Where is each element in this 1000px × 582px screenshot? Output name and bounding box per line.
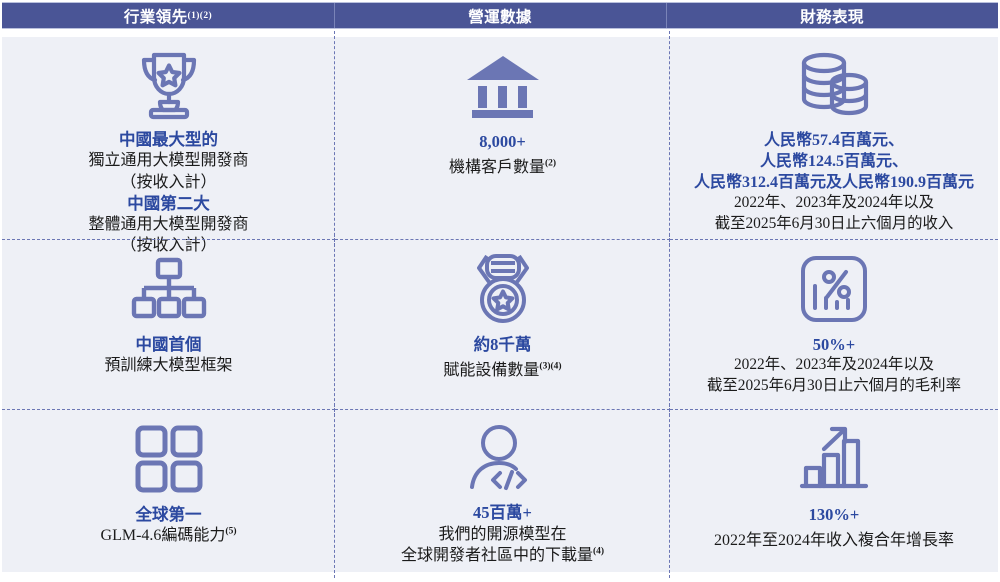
growth-bars-icon	[796, 420, 872, 498]
developer-code-icon	[466, 420, 540, 496]
line-2: 截至2025年6月30日止六個月的毛利率	[707, 376, 961, 396]
infographic-board: 行業領先(1)(2) 營運數據 財務表現	[0, 0, 1000, 582]
line-3: 2022年、2023年及2024年以及	[694, 193, 974, 213]
line-1-text: 賦能設備數量	[443, 362, 539, 379]
cell-text-block: 全球第一 GLM-4.6編碼能力(5)	[101, 504, 237, 547]
cell-financial-revenue-cagr: 130%+ 2022年至2024年收入複合年增長率	[670, 410, 998, 572]
line-3: 中國第二大	[88, 193, 248, 214]
line-4: 截至2025年6月30日止六個月的收入	[694, 214, 974, 234]
percent-chart-icon	[799, 250, 869, 328]
cell-operating-enabled-devices: 約8千萬 賦能設備數量(3)(4)	[335, 240, 670, 410]
line-0: 50%+	[707, 334, 961, 355]
line-2-text: 全球開發者社區中的下載量	[401, 547, 593, 564]
cell-financial-gross-margin: 50%+ 2022年、2023年及2024年以及 截至2025年6月30日止六個…	[670, 240, 998, 410]
cell-text-block: 中國首個 預訓練大模型框架	[104, 334, 232, 377]
cell-text-block: 130%+ 2022年至2024年收入複合年增長率	[714, 504, 954, 552]
line-0: 中國首個	[104, 334, 232, 355]
header-label-operating-data: 營運數據	[468, 5, 532, 27]
cell-operating-institutional-customers: 8,000+ 機構客戶數量(2)	[335, 37, 670, 240]
line-1-sup: (3)(4)	[539, 362, 561, 372]
line-1: 獨立通用大模型開發商	[88, 150, 248, 171]
line-1: 2022年至2024年收入複合年增長率	[714, 530, 954, 551]
line-1-text: GLM-4.6編碼能力	[101, 527, 226, 544]
line-4: 整體通用大模型開發商	[88, 214, 248, 235]
bank-icon	[464, 47, 542, 125]
cell-text-block: 中國最大型的 獨立通用大模型開發商 （按收入計） 中國第二大 整體通用大模型開發…	[88, 129, 248, 256]
line-0: 45百萬+	[401, 502, 604, 523]
header-label-industry-leading: 行業領先	[124, 5, 188, 27]
cell-financial-revenue: 人民幣57.4百萬元、 人民幣124.5百萬元、 人民幣312.4百萬元及人民幣…	[670, 37, 998, 240]
line-1: 2022年、2023年及2024年以及	[707, 355, 961, 375]
header-cell-industry-leading: 行業領先(1)(2)	[2, 3, 334, 28]
line-1-sup: (5)	[225, 527, 236, 537]
coins-stack-icon	[794, 47, 874, 124]
trophy-icon	[132, 47, 206, 123]
cell-industry-leading-largest-model-developer: 中國最大型的 獨立通用大模型開發商 （按收入計） 中國第二大 整體通用大模型開發…	[2, 37, 335, 240]
line-2: （按收入計）	[88, 172, 248, 193]
cell-text-block: 50%+ 2022年、2023年及2024年以及 截至2025年6月30日止六個…	[707, 334, 961, 396]
header-row: 行業領先(1)(2) 營運數據 財務表現	[2, 2, 998, 29]
line-1: 人民幣124.5百萬元、	[694, 151, 974, 172]
line-0: 人民幣57.4百萬元、	[694, 130, 974, 151]
line-1-sup: (2)	[545, 159, 556, 169]
cell-text-block: 8,000+ 機構客戶數量(2)	[449, 131, 556, 179]
line-1: GLM-4.6編碼能力(5)	[101, 525, 237, 546]
line-0: 中國最大型的	[88, 129, 248, 150]
cell-text-block: 約8千萬 賦能設備數量(3)(4)	[443, 334, 561, 382]
line-1: 賦能設備數量(3)(4)	[443, 360, 561, 381]
cell-industry-leading-global-first-coding: 全球第一 GLM-4.6編碼能力(5)	[2, 410, 335, 572]
line-1-text: 機構客戶數量	[449, 159, 545, 176]
header-label-financial-performance: 財務表現	[800, 5, 864, 27]
line-1: 我們的開源模型在	[401, 524, 604, 545]
header-cell-financial-performance: 財務表現	[666, 3, 998, 28]
hierarchy-icon	[131, 250, 207, 328]
line-0: 130%+	[714, 504, 954, 525]
line-1: 預訓練大模型框架	[104, 355, 232, 376]
line-1: 機構客戶數量(2)	[449, 157, 556, 178]
line-2-sup: (4)	[593, 547, 604, 557]
medal-icon	[469, 250, 537, 328]
cell-text-block: 45百萬+ 我們的開源模型在 全球開發者社區中的下載量(4)	[401, 502, 604, 566]
header-cell-operating-data: 營運數據	[334, 3, 666, 28]
line-2: 全球開發者社區中的下載量(4)	[401, 545, 604, 566]
line-0: 約8千萬	[443, 334, 561, 355]
line-2: 人民幣312.4百萬元及人民幣190.9百萬元	[694, 172, 974, 193]
cell-industry-leading-first-pretrained-framework: 中國首個 預訓練大模型框架	[2, 240, 335, 410]
metrics-grid: 中國最大型的 獨立通用大模型開發商 （按收入計） 中國第二大 整體通用大模型開發…	[2, 37, 998, 572]
line-0: 全球第一	[101, 504, 237, 525]
cell-text-block: 人民幣57.4百萬元、 人民幣124.5百萬元、 人民幣312.4百萬元及人民幣…	[694, 130, 974, 234]
line-0: 8,000+	[449, 131, 556, 152]
cell-operating-open-source-downloads: 45百萬+ 我們的開源模型在 全球開發者社區中的下載量(4)	[335, 410, 670, 572]
grid-squares-icon	[134, 420, 204, 498]
